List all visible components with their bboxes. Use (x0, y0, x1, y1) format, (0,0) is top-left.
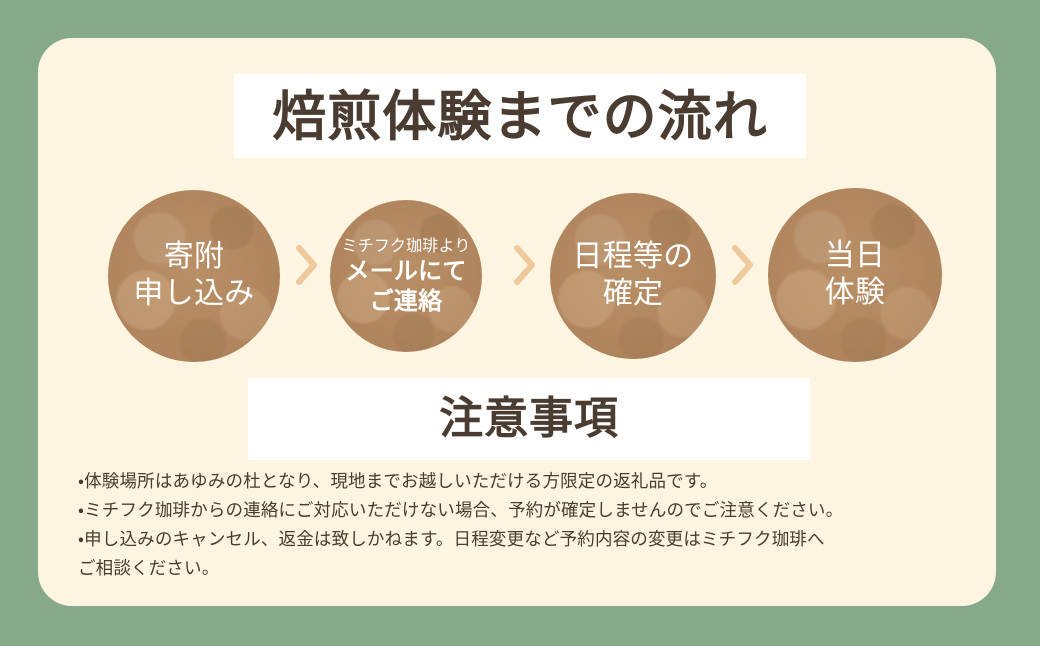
notice-line-1: ・体験場所はあゆみの杜となり、現地までお越しいただける方限定の返礼品です。 (78, 468, 978, 497)
flow-step-3-line-2: 確定 (603, 276, 664, 313)
flow-step-3: 日程等の 確定 (550, 193, 716, 359)
chevron-right-icon (512, 243, 538, 287)
flow-step-1-line-1: 寄附 (164, 239, 225, 276)
content-card: 焙煎体験までの流れ 寄附 申し込み ミチフク珈琲より メールにて ご連絡 日程等… (38, 38, 996, 606)
notice-body: ・体験場所はあゆみの杜となり、現地までお越しいただける方限定の返礼品です。 ・ミ… (78, 468, 978, 584)
flow-step-4-line-1: 当日 (825, 238, 886, 275)
flow-step-2-line-3: ご連絡 (370, 287, 443, 317)
notice-line-4: ご相談ください。 (78, 555, 978, 584)
flow-step-3-line-1: 日程等の (572, 239, 693, 276)
notice-title: 注意事項 (248, 384, 810, 454)
flow-step-1: 寄附 申し込み (108, 190, 280, 362)
flow-step-1-line-2: 申し込み (133, 276, 254, 313)
chevron-right-icon (294, 243, 320, 287)
notice-line-3: ・申し込みのキャンセル、返金は致しかねます。日程変更など予約内容の変更はミチフク… (78, 526, 978, 555)
poster-canvas: 焙煎体験までの流れ 寄附 申し込み ミチフク珈琲より メールにて ご連絡 日程等… (0, 0, 1040, 646)
flow-step-2-line-2: メールにて (345, 257, 466, 287)
notice-line-2: ・ミチフク珈琲からの連絡にご対応いただけない場合、予約が確定しませんのでご注意く… (78, 497, 978, 526)
page-title: 焙煎体験までの流れ (234, 80, 806, 154)
flow-step-2: ミチフク珈琲より メールにて ご連絡 (330, 200, 482, 352)
chevron-right-icon (730, 243, 756, 287)
flow-step-4: 当日 体験 (768, 188, 942, 362)
flow-step-4-line-2: 体験 (825, 275, 886, 312)
flow-step-2-line-1: ミチフク珈琲より (342, 236, 471, 256)
